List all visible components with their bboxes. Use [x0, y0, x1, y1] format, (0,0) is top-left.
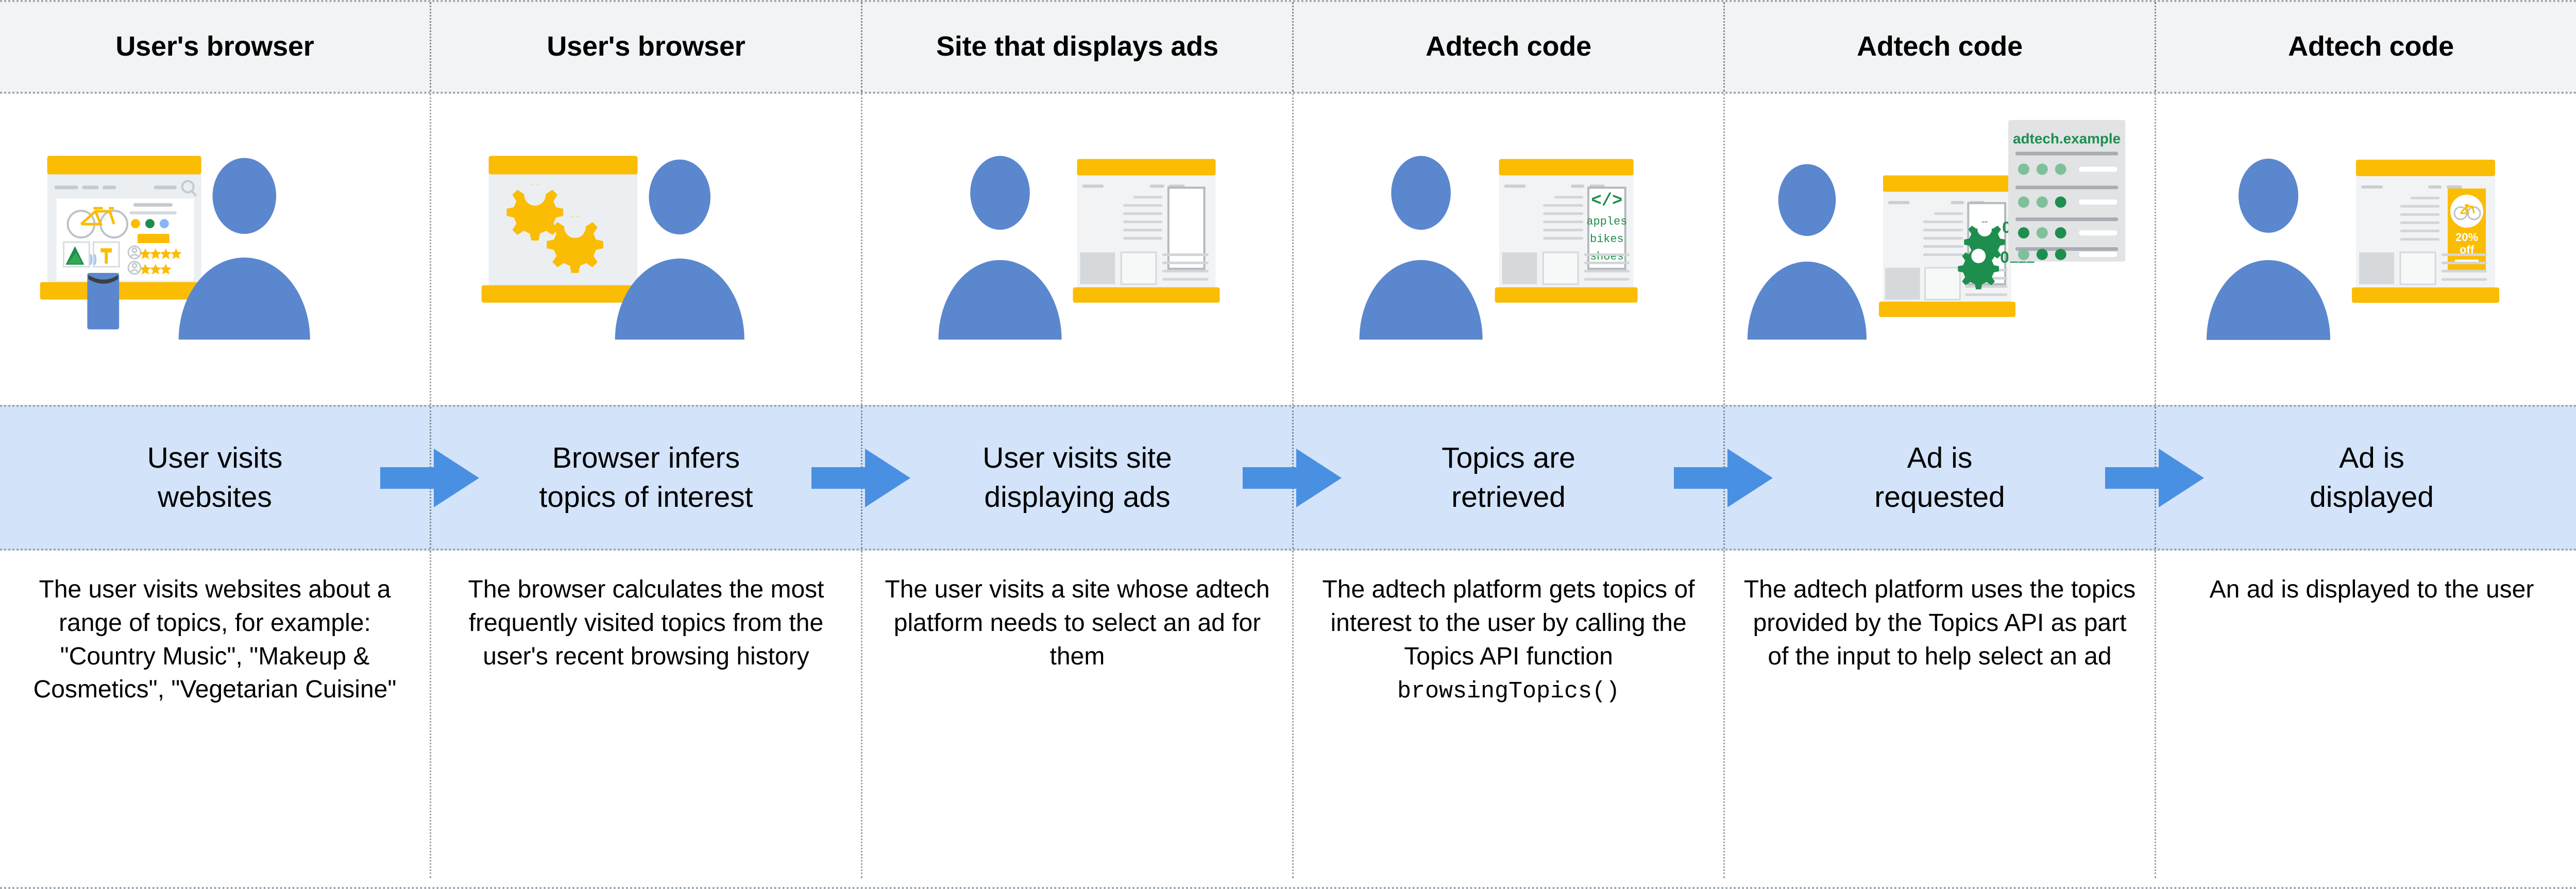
step-label: User visits sitedisplaying ads — [982, 439, 1172, 516]
step-band-row: User visitswebsites Browser inferstopics… — [0, 405, 2576, 551]
article-page-empty-ad-slot-illustration — [862, 94, 1292, 405]
description-cell-5: The adtech platform uses the topics prov… — [1725, 551, 2156, 878]
gear-icon — [547, 216, 603, 273]
adtech-server-title: adtech.example — [2013, 131, 2121, 147]
step-cell-4: Topics areretrieved — [1294, 407, 1725, 549]
header-row: User's browser User's browser Site that … — [0, 0, 2576, 94]
step-label: Ad isrequested — [1874, 439, 2005, 516]
coffee-mug-icon — [87, 273, 119, 330]
description-text: The adtech platform uses the topics prov… — [1742, 573, 2137, 673]
description-row: The user visits websites about a range o… — [0, 551, 2576, 878]
description-prefix: The adtech platform gets topics of inter… — [1322, 576, 1694, 670]
person-silhouette — [1748, 164, 1867, 340]
illustration-cell-2 — [431, 94, 862, 405]
description-text: The user visits websites about a range o… — [18, 573, 412, 707]
description-text: The adtech platform gets topics of inter… — [1311, 573, 1706, 708]
description-cell-6: An ad is displayed to the user — [2156, 551, 2576, 878]
ad-discount-line-1: 20% — [2455, 231, 2478, 244]
column-header-label: Site that displays ads — [936, 31, 1218, 62]
topics-api-flow-diagram: User's browser User's browser Site that … — [0, 0, 2576, 889]
illustration-cell-3 — [862, 94, 1294, 405]
description-cell-4: The adtech platform gets topics of inter… — [1294, 551, 1725, 878]
article-page-bike-ad-illustration: 20% off — [2156, 94, 2576, 405]
bottom-divider — [0, 887, 2576, 889]
step-cell-2: Browser inferstopics of interest — [431, 407, 862, 549]
illustration-cell-6: 20% off — [2156, 94, 2576, 405]
step-cell-1: User visitswebsites — [0, 407, 431, 549]
ad-code-symbol-label: </> — [1591, 191, 1622, 211]
description-text: The browser calculates the most frequent… — [449, 573, 843, 673]
description-text: The user visits a site whose adtech plat… — [880, 573, 1275, 673]
step-cell-6: Ad isdisplayed — [2156, 407, 2576, 549]
illustration-cell-4: </> apples bikes shoes — [1294, 94, 1725, 405]
description-cell-1: The user visits websites about a range o… — [0, 551, 431, 878]
gear-icon — [506, 184, 563, 241]
browser-gears-illustration — [431, 94, 861, 405]
description-cell-2: The browser calculates the most frequent… — [431, 551, 862, 878]
article-page-topics-code-slot-illustration: </> apples bikes shoes — [1294, 94, 1723, 405]
header-cell-4: Adtech code — [1294, 2, 1725, 92]
gear-icon — [1958, 248, 1999, 289]
person-silhouette — [1360, 156, 1483, 340]
step-label: Browser inferstopics of interest — [539, 439, 753, 516]
column-header-label: Adtech code — [1426, 31, 1591, 62]
step-cell-3: User visits sitedisplaying ads — [862, 407, 1294, 549]
header-cell-3: Site that displays ads — [862, 2, 1294, 92]
article-page-gears-adtech-server-illustration: 0110 0111 adtech.example — [1725, 94, 2155, 405]
topic-label-3: shoes — [1590, 250, 1624, 263]
user-browsing-shopping-site-illustration — [0, 94, 430, 405]
topic-label-1: apples — [1586, 215, 1627, 228]
step-label: Ad isdisplayed — [2310, 439, 2434, 516]
step-cell-5: Ad isrequested — [1725, 407, 2156, 549]
column-header-label: User's browser — [115, 31, 314, 62]
header-cell-5: Adtech code — [1725, 2, 2156, 92]
person-silhouette — [2207, 159, 2330, 340]
header-cell-6: Adtech code — [2156, 2, 2576, 92]
header-cell-2: User's browser — [431, 2, 862, 92]
illustration-cell-5: 0110 0111 adtech.example — [1725, 94, 2156, 405]
topic-label-2: bikes — [1590, 233, 1624, 246]
step-label: User visitswebsites — [147, 439, 283, 516]
person-silhouette — [938, 156, 1061, 340]
header-cell-1: User's browser — [0, 2, 431, 92]
column-header-label: Adtech code — [1857, 31, 2023, 62]
description-cell-3: The user visits a site whose adtech plat… — [862, 551, 1294, 878]
illustration-cell-1 — [0, 94, 431, 405]
step-label: Topics areretrieved — [1442, 439, 1575, 516]
browsing-topics-code: browsingTopics() — [1397, 678, 1620, 705]
description-text: An ad is displayed to the user — [2174, 573, 2570, 607]
column-header-label: Adtech code — [2288, 31, 2454, 62]
illustration-row: </> apples bikes shoes — [0, 94, 2576, 405]
column-header-label: User's browser — [547, 31, 745, 62]
